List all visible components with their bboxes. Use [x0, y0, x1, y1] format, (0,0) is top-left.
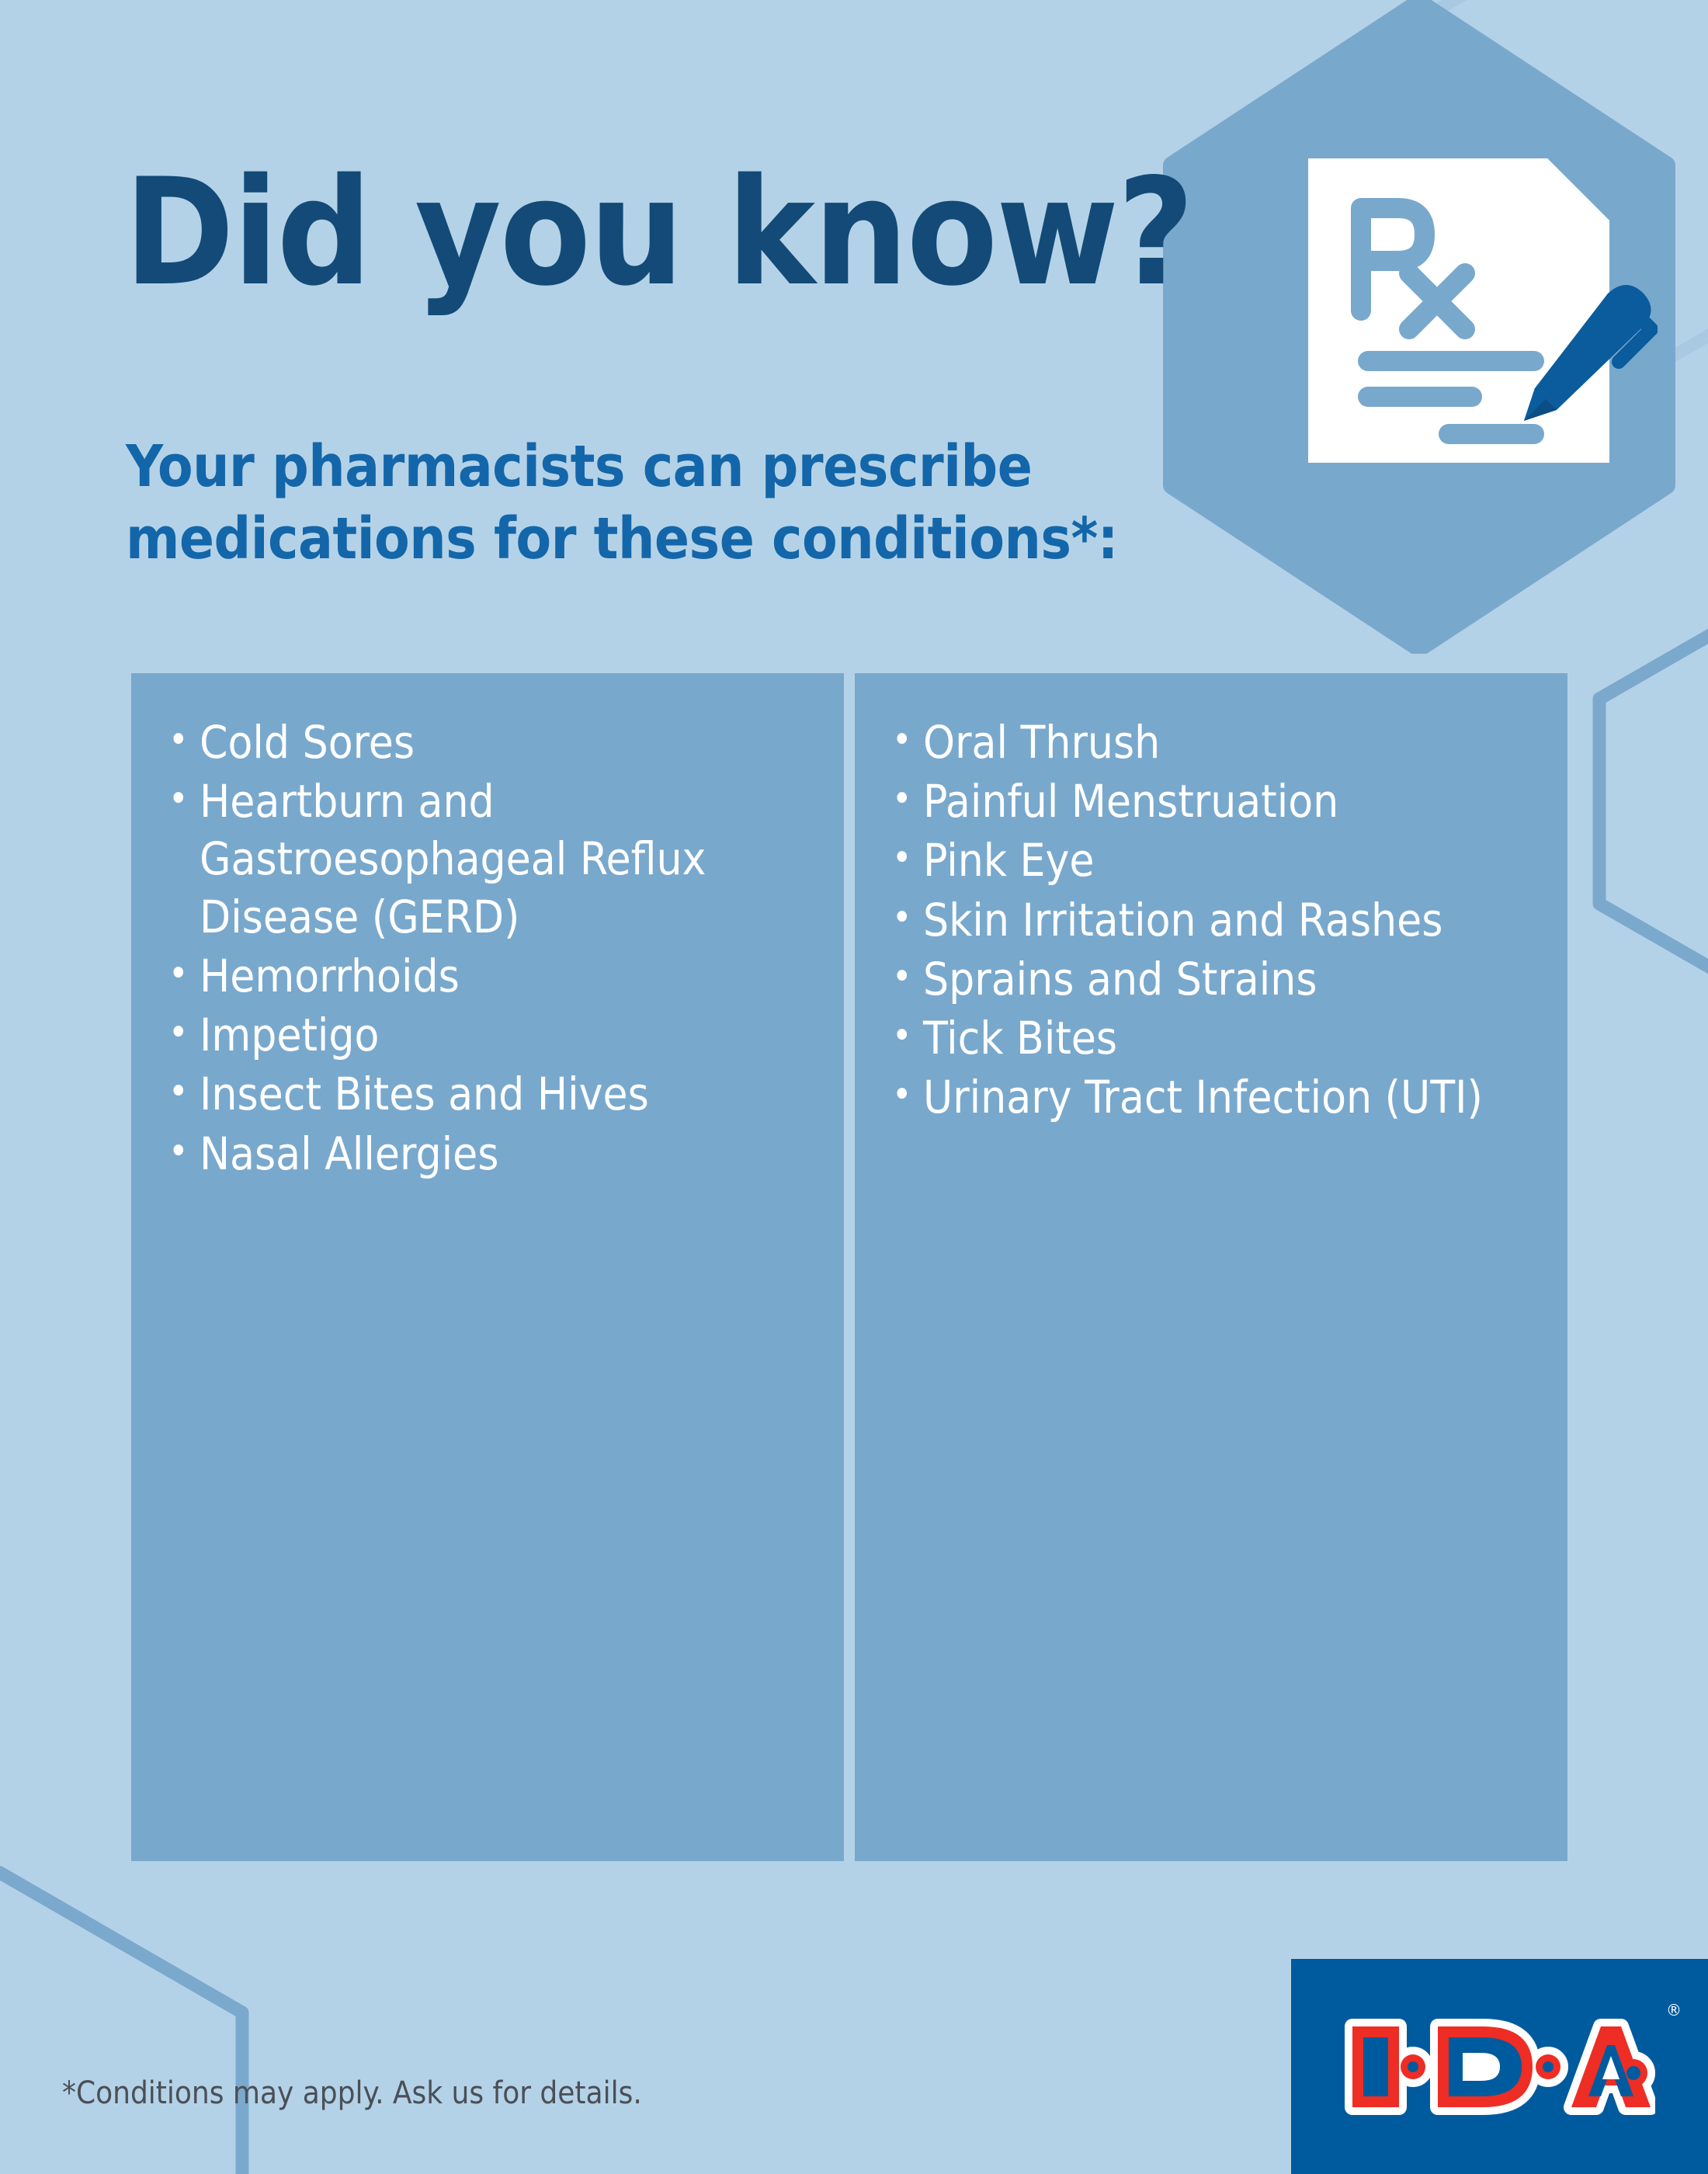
ida-logo-block: ® — [1291, 1959, 1708, 2174]
list-item: Nasal Allergies — [168, 1125, 821, 1183]
list-item: Insect Bites and Hives — [168, 1065, 821, 1123]
list-item: Tick Bites — [892, 1009, 1544, 1067]
list-item: Sprains and Strains — [892, 950, 1544, 1008]
list-item: Heartburn and Gastroesophageal Reflux Di… — [168, 773, 821, 946]
page-subtitle: Your pharmacists can prescribe medicatio… — [126, 431, 1135, 575]
hexagon-outline-icon — [1568, 584, 1708, 1019]
list-item: Painful Menstruation — [892, 773, 1544, 830]
poster-canvas: Did you know? Your pharmacists can presc… — [0, 0, 1708, 2174]
list-item: Oral Thrush — [892, 714, 1544, 771]
conditions-panel-left: Cold Sores Heartburn and Gastroesophagea… — [131, 673, 844, 1861]
list-item: Hemorrhoids — [168, 947, 821, 1005]
registered-trademark-symbol: ® — [1666, 2001, 1682, 2019]
list-item: Urinary Tract Infection (UTI) — [892, 1068, 1544, 1126]
list-item: Skin Irritation and Rashes — [892, 891, 1544, 949]
conditions-list-left: Cold Sores Heartburn and Gastroesophagea… — [131, 673, 844, 1183]
hexagon-outline-icon — [0, 1863, 256, 2174]
list-item: Pink Eye — [892, 832, 1544, 889]
ida-logo-icon — [1345, 2013, 1655, 2121]
prescription-rx-icon — [1300, 148, 1658, 474]
conditions-panel-right: Oral Thrush Painful Menstruation Pink Ey… — [855, 673, 1567, 1861]
conditions-panels: Cold Sores Heartburn and Gastroesophagea… — [131, 673, 1567, 1861]
list-item: Impetigo — [168, 1006, 821, 1064]
conditions-list-right: Oral Thrush Painful Menstruation Pink Ey… — [855, 673, 1567, 1127]
footnote-text: *Conditions may apply. Ask us for detail… — [62, 2075, 642, 2111]
page-title: Did you know? — [124, 159, 1192, 307]
list-item: Cold Sores — [168, 714, 821, 771]
